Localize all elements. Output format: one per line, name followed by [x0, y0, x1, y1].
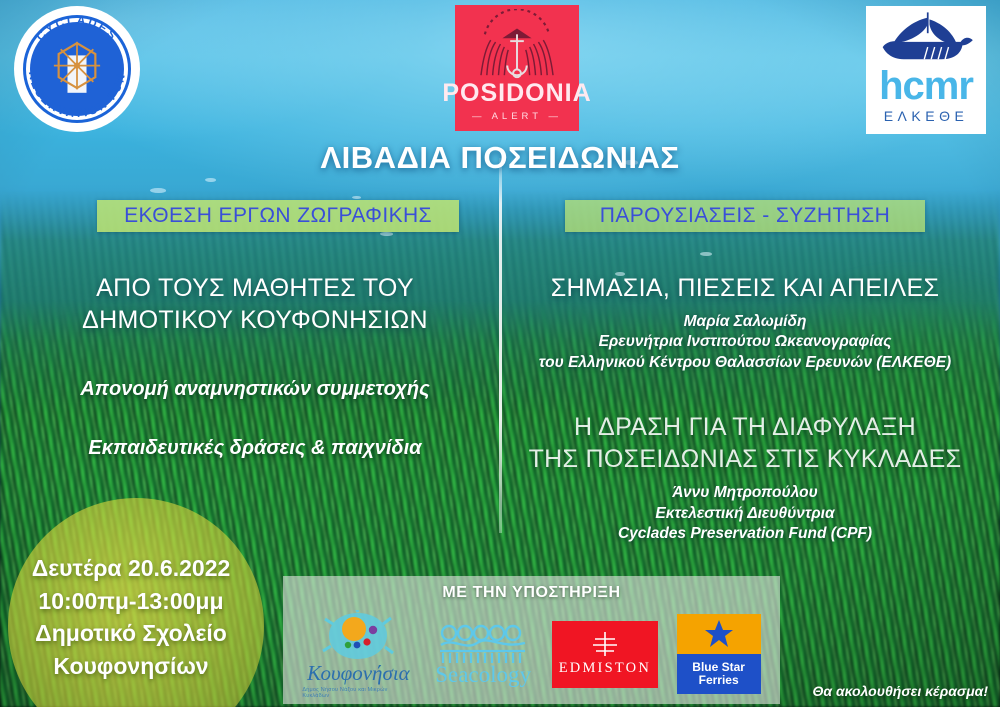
edmiston-wordmark: EDMISTON [559, 660, 651, 677]
koufonisia-wordmark: Κουφονήσια [307, 663, 410, 684]
cpf-ring-text: CYCLADES PRESERVATION FUND [14, 6, 140, 132]
exhibition-subtitle-line1: ΑΠΟ ΤΟΥΣ ΜΑΘΗΤΕΣ ΤΟΥ [20, 272, 490, 304]
star-icon [704, 619, 734, 649]
fish-speck [700, 252, 712, 256]
activity-awards: Απονομή αναμνηστικών συμμετοχής [20, 378, 490, 401]
exhibition-subtitle-line2: ΔΗΜΟΤΙΚΟΥ ΚΟΥΦΟΝΗΣΙΩΝ [20, 304, 490, 336]
footnote: Θα ακολουθήσει κέρασμα! [813, 683, 989, 699]
banner-presentations: ΠΑΡΟΥΣΙΑΣΕΙΣ - ΣΥΖΗΤΗΣΗ [565, 200, 925, 232]
posidonia-title: POSIDONIA [442, 81, 591, 106]
right-column: ΣΗΜΑΣΙΑ, ΠΙΕΣΕΙΣ ΚΑΙ ΑΠΕΙΛΕΣ Μαρία Σαλωμ… [510, 272, 980, 545]
poster-canvas: CYCLADES PRESERVATION FUND [0, 0, 1000, 707]
talk1-speaker-block: Μαρία Σαλωμίδη Ερευνήτρια Ινστιτούτου Ωκ… [510, 312, 980, 373]
event-time: 10:00πμ-13:00μμ [0, 585, 262, 618]
blue-star-ferries-logo: Blue Star Ferries [677, 614, 761, 694]
fish-speck [380, 232, 393, 236]
cyclades-preservation-fund-logo: CYCLADES PRESERVATION FUND [14, 6, 140, 132]
event-venue-line2: Κουφονησίων [0, 650, 262, 683]
seacology-logo: Seacology [433, 623, 533, 686]
talk1-speaker-name: Μαρία Σαλωμίδη [510, 312, 980, 332]
blue-star-top [677, 614, 761, 654]
talk2-speaker-name: Άννυ Μητροπούλου [510, 483, 980, 503]
fish-speck [150, 188, 166, 193]
column-divider [499, 158, 502, 533]
talk2-title-line1: Η ΔΡΑΣΗ ΓΙΑ ΤΗ ΔΙΑΦΥΛΑΞΗ [510, 411, 980, 443]
seacology-pattern-icon [437, 623, 529, 665]
talk1-role-line2: του Ελληνικού Κέντρου Θαλασσίων Ερευνών … [510, 353, 980, 373]
edmiston-logo: EDMISTON [552, 621, 658, 688]
event-date: Δευτέρα 20.6.2022 [0, 552, 262, 585]
event-venue-line1: Δημοτικό Σχολείο [0, 617, 262, 650]
blue-star-bottom: Blue Star Ferries [677, 654, 761, 694]
talk1-title: ΣΗΜΑΣΙΑ, ΠΙΕΣΕΙΣ ΚΑΙ ΑΠΕΙΛΕΣ [510, 272, 980, 304]
seagrass-anchor-icon [463, 9, 571, 83]
talk2-role-line1: Εκτελεστική Διευθύντρια [510, 504, 980, 524]
sponsor-row: Κουφονήσια Δήμος Νήσου Νάξου και Μικρών … [283, 608, 780, 700]
posidonia-subtitle: — ALERT — [472, 111, 562, 122]
talk1-role-line1: Ερευνήτρια Ινστιτούτου Ωκεανογραφίας [510, 332, 980, 352]
fish-speck [205, 178, 216, 182]
blue-star-word-line2: Ferries [699, 674, 739, 687]
talk2-title-line2: ΤΗΣ ΠΟΣΕΙΔΩΝΙΑΣ ΣΤΙΣ ΚΥΚΛΑΔΕΣ [510, 443, 980, 475]
hcmr-subtitle: ΕΛΚΕΘΕ [884, 108, 969, 124]
event-info-text: Δευτέρα 20.6.2022 10:00πμ-13:00μμ Δημοτι… [0, 552, 262, 683]
ancient-ship-icon [874, 10, 978, 72]
sponsor-title: ΜΕ ΤΗΝ ΥΠΟΣΤΗΡΙΞΗ [283, 584, 780, 602]
talk2-role-line2: Cyclades Preservation Fund (CPF) [510, 524, 980, 544]
edmiston-mark-icon [588, 631, 622, 657]
koufonisia-logo: Κουφονήσια Δήμος Νήσου Νάξου και Μικρών … [302, 610, 414, 699]
banner-exhibition: ΕΚΘΕΣΗ ΕΡΓΩΝ ΖΩΓΡΑΦΙΚΗΣ [97, 200, 459, 232]
seacology-wordmark: Seacology [435, 663, 531, 686]
talk2-speaker-block: Άννυ Μητροπούλου Εκτελεστική Διευθύντρια… [510, 483, 980, 544]
fish-speck [352, 196, 361, 199]
hcmr-wordmark: hcmr [879, 70, 973, 102]
koufonisia-subtitle: Δήμος Νήσου Νάξου και Μικρών Κυκλάδων [302, 687, 414, 699]
hcmr-logo: hcmr ΕΛΚΕΘΕ [866, 6, 986, 134]
activity-games: Εκπαιδευτικές δράσεις & παιχνίδια [20, 437, 490, 460]
left-column: ΑΠΟ ΤΟΥΣ ΜΑΘΗΤΕΣ ΤΟΥ ΔΗΜΟΤΙΚΟΥ ΚΟΥΦΟΝΗΣΙ… [20, 272, 490, 336]
sponsor-strip: ΜΕ ΤΗΝ ΥΠΟΣΤΗΡΙΞΗ Κουφονήσια Δήμος Νήσου… [283, 576, 780, 704]
posidonia-alert-logo: POSIDONIA — ALERT — [455, 5, 579, 131]
page-title: ΛΙΒΑΔΙΑ ΠΟΣΕΙΔΩΝΙΑΣ [0, 140, 1000, 176]
cpf-ring-text-top: CYCLADES [35, 15, 120, 44]
koufonisia-splash-icon [321, 610, 395, 662]
